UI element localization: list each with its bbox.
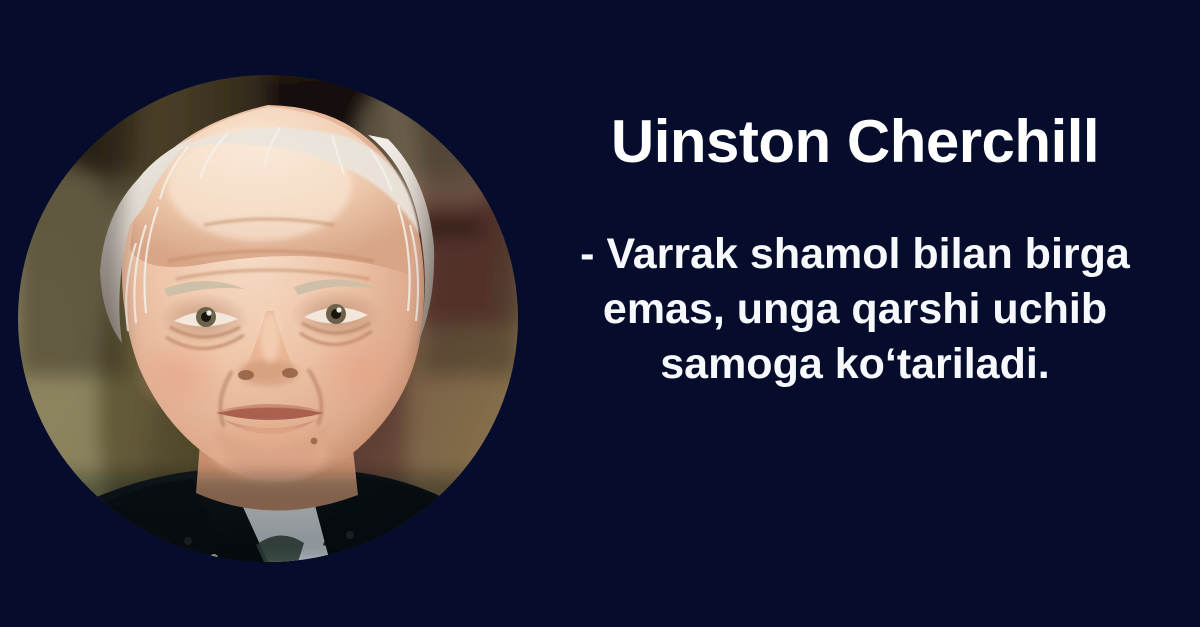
quote-line: - Varrak shamol bilan birga: [545, 227, 1165, 282]
text-column: Uinston Cherchill - Varrak shamol bilan …: [545, 110, 1165, 392]
quote-line: emas, unga qarshi uchib: [545, 282, 1165, 337]
portrait-avatar: [18, 75, 518, 562]
quote-card: Uinston Cherchill - Varrak shamol bilan …: [0, 0, 1200, 627]
page-title: Uinston Cherchill: [545, 110, 1165, 175]
portrait-image: [18, 75, 518, 562]
quote-body: - Varrak shamol bilan birga emas, unga q…: [545, 227, 1165, 392]
quote-line: samoga koʻtariladi.: [545, 337, 1165, 392]
